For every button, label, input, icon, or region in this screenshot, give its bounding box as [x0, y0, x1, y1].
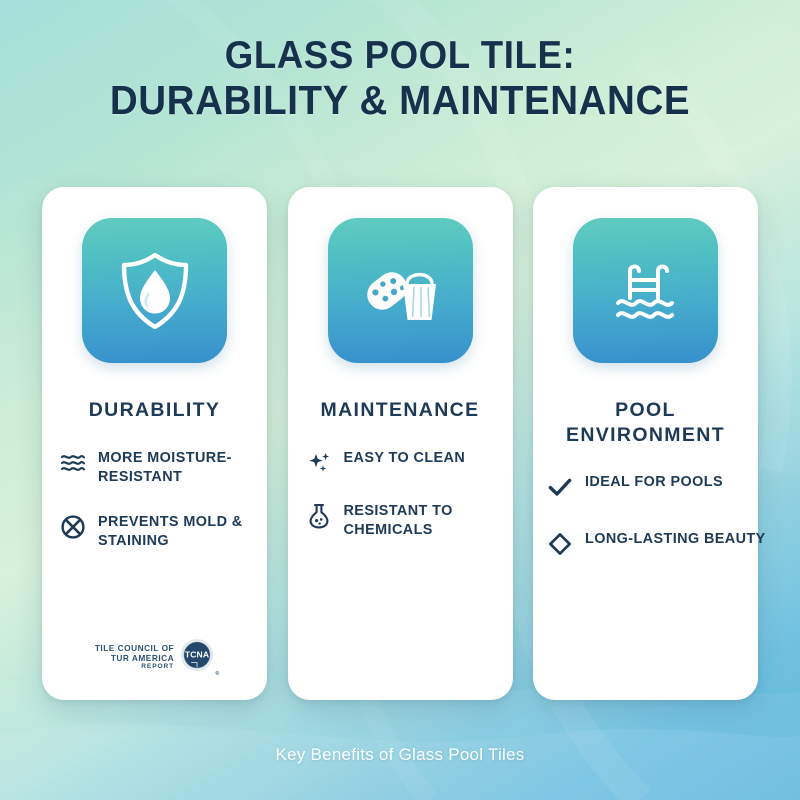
icon-tile-maintenance [328, 218, 473, 363]
title-line-2: DURABILITY & MAINTENANCE [24, 78, 776, 124]
circle-x-no-mold-icon [60, 514, 86, 540]
page-title: GLASS POOL TILE: DURABILITY & MAINTENANC… [24, 34, 776, 124]
pool-ladder-waves-icon [602, 251, 690, 331]
card-title-maintenance: MAINTENANCE [309, 398, 492, 423]
bullet-label: RESISTANT TO CHEMICALS [344, 502, 493, 541]
diamond-icon [547, 531, 573, 557]
sponge-bucket-icon [356, 251, 444, 331]
title-line-1: GLASS POOL TILE: [225, 34, 576, 77]
infographic-canvas: GLASS POOL TILE: DURABILITY & MAINTENANC… [0, 0, 800, 800]
logo-wordmark: TILE COUNCIL OF TUR AMERICA REPORT [95, 644, 174, 670]
card-title-durability: DURABILITY [77, 398, 233, 423]
checkmark-icon [547, 474, 573, 500]
flask-icon [306, 503, 332, 529]
benefit-card-pool-environment[interactable]: POOL ENVIRONMENT IDEAL FOR POOLS [533, 187, 758, 700]
sparkles-icon [306, 450, 332, 476]
bullet-list-durability: MORE MOISTURE-RESISTANT PREVENTS MOLD & … [42, 449, 267, 552]
bullet-item: RESISTANT TO CHEMICALS [306, 502, 493, 541]
benefit-card-durability[interactable]: DURABILITY MORE MOISTURE-RESISTANT [42, 187, 267, 700]
bullet-label: PREVENTS MOLD & STAINING [98, 513, 247, 552]
tcna-badge: TCNA ® [180, 638, 214, 677]
logo-line-2: TUR AMERICA [95, 654, 174, 663]
card-title-pool-environment: POOL ENVIRONMENT [554, 398, 737, 447]
bullet-item: IDEAL FOR POOLS [547, 473, 746, 500]
benefit-card-maintenance[interactable]: MAINTENANCE EASY TO CLEAN [288, 187, 513, 700]
bullet-item: LONG-LASTING BEAUTY [547, 530, 746, 557]
bullet-label: MORE MOISTURE-RESISTANT [98, 449, 247, 488]
shield-water-drop-icon [112, 248, 198, 334]
waves-icon [60, 450, 86, 476]
svg-text:TCNA: TCNA [185, 649, 209, 659]
tcna-logo: TILE COUNCIL OF TUR AMERICA REPORT TCNA … [42, 638, 267, 677]
icon-tile-pool-environment [573, 218, 718, 363]
bullet-item: EASY TO CLEAN [306, 449, 493, 476]
bullet-list-maintenance: EASY TO CLEAN RESISTANT TO CHEMICALS [288, 449, 513, 541]
benefit-cards-row: DURABILITY MORE MOISTURE-RESISTANT [42, 187, 758, 700]
footer-caption: Key Benefits of Glass Pool Tiles [0, 745, 800, 765]
bullet-label: EASY TO CLEAN [344, 449, 466, 468]
bullet-list-pool-environment: IDEAL FOR POOLS LONG-LASTING BEAUTY [533, 473, 758, 557]
logo-line-3: REPORT [95, 663, 174, 671]
bullet-label: LONG-LASTING BEAUTY [585, 530, 766, 549]
bullet-label: IDEAL FOR POOLS [585, 473, 723, 492]
icon-tile-durability [82, 218, 227, 363]
bullet-item: MORE MOISTURE-RESISTANT [60, 449, 247, 488]
bullet-item: PREVENTS MOLD & STAINING [60, 513, 247, 552]
registered-mark: ® [215, 671, 219, 677]
